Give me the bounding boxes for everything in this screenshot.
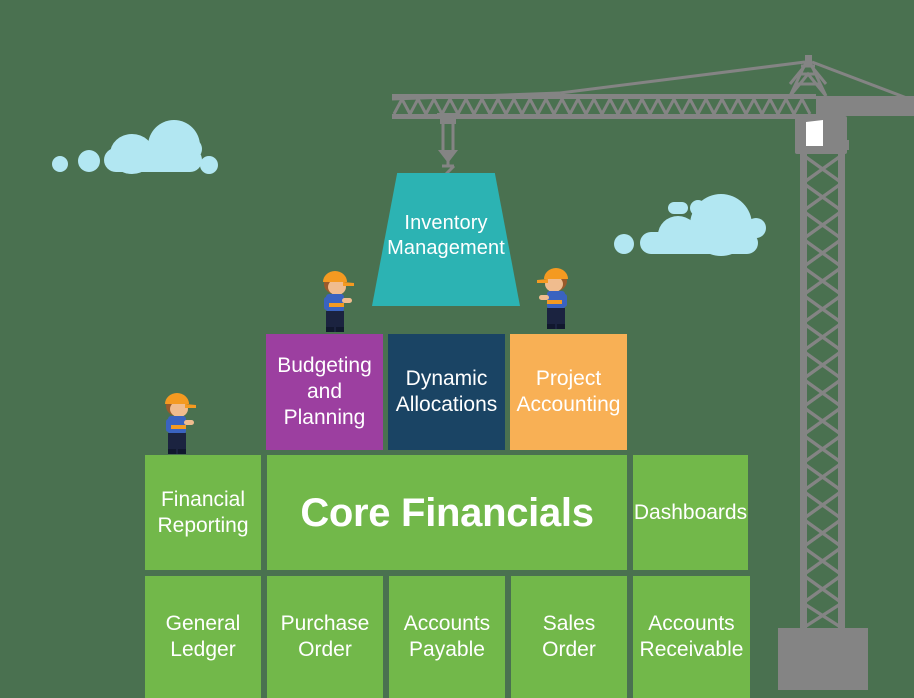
- block-accounts-payable[interactable]: Accounts Payable: [389, 576, 505, 698]
- block-project-accounting[interactable]: Project Accounting: [510, 334, 627, 450]
- hoisted-module-inventory-management[interactable]: Inventory Management: [372, 173, 520, 306]
- block-label: Dynamic Allocations: [396, 366, 498, 418]
- block-label: Purchase Order: [281, 611, 370, 663]
- worker-left-mid: [313, 270, 357, 332]
- worker-lower-left: [155, 392, 199, 454]
- block-financial-reporting[interactable]: Financial Reporting: [145, 455, 261, 570]
- block-label: Accounts Receivable: [640, 611, 744, 663]
- block-purchase-order[interactable]: Purchase Order: [267, 576, 383, 698]
- block-label: Project Accounting: [517, 366, 621, 418]
- hoisted-module-label: Inventory Management: [348, 211, 544, 261]
- block-label: Dashboards: [634, 500, 747, 526]
- cloud-left: [52, 120, 202, 172]
- block-label: Core Financials: [300, 491, 593, 535]
- cloud-right: [614, 194, 762, 252]
- block-label: Accounts Payable: [404, 611, 490, 663]
- block-general-ledger[interactable]: General Ledger: [145, 576, 261, 698]
- block-core-financials[interactable]: Core Financials: [267, 455, 627, 570]
- block-label: General Ledger: [166, 611, 241, 663]
- block-sales-order[interactable]: Sales Order: [511, 576, 627, 698]
- block-label: Budgeting and Planning: [277, 353, 372, 431]
- block-dynamic-allocations[interactable]: Dynamic Allocations: [388, 334, 505, 450]
- infographic-canvas: Inventory Management: [0, 0, 914, 698]
- block-dashboards[interactable]: Dashboards: [633, 455, 748, 570]
- block-budgeting-and-planning[interactable]: Budgeting and Planning: [266, 334, 383, 450]
- block-label: Sales Order: [542, 611, 596, 663]
- block-accounts-receivable[interactable]: Accounts Receivable: [633, 576, 750, 698]
- worker-right-mid: [534, 267, 578, 329]
- block-label: Financial Reporting: [157, 487, 248, 539]
